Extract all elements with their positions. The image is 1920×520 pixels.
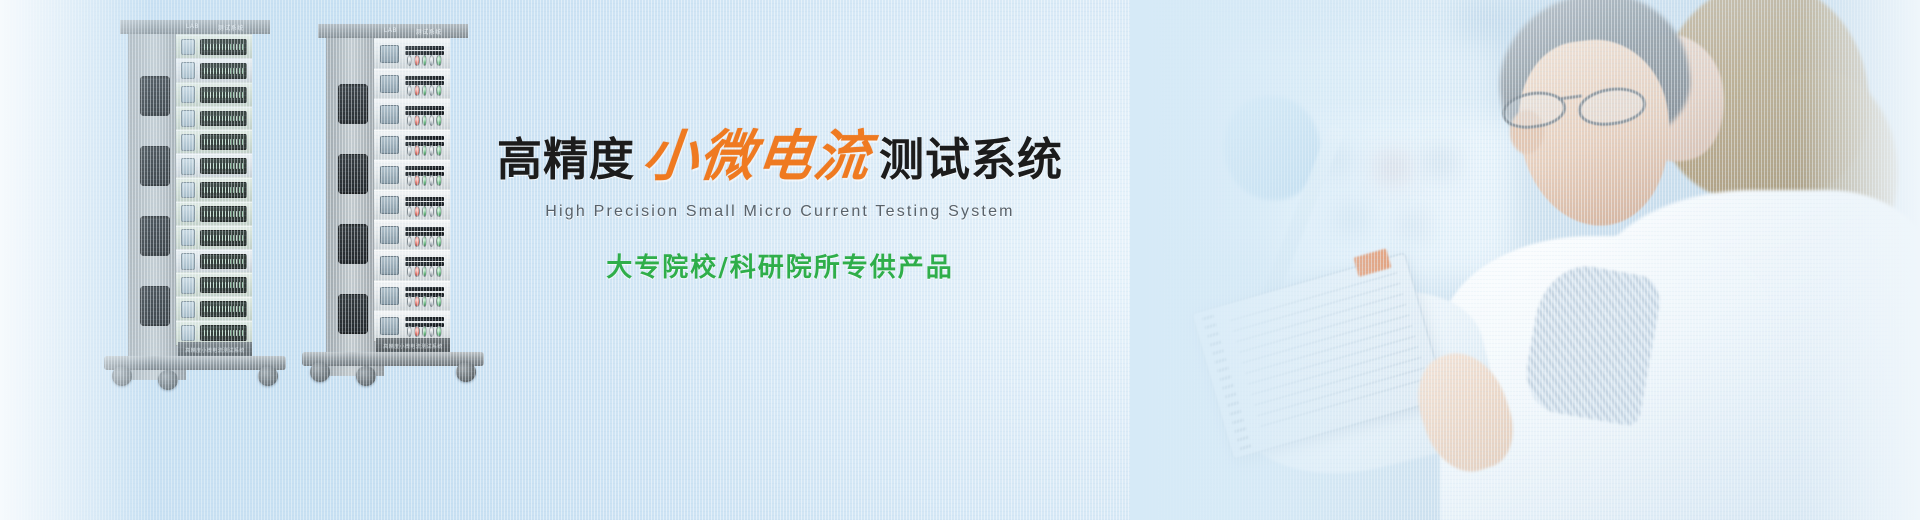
module-channel-strip xyxy=(200,158,247,174)
channel-led xyxy=(210,92,211,98)
module-slot xyxy=(405,136,444,140)
channel-led xyxy=(239,187,240,193)
channel-led xyxy=(230,116,231,122)
module-display xyxy=(181,253,195,270)
module-display xyxy=(181,182,195,199)
rack-base xyxy=(104,356,286,370)
module-slot xyxy=(405,76,444,80)
module-knob xyxy=(407,115,412,126)
channel-led xyxy=(222,235,223,241)
rack-vent xyxy=(338,294,368,334)
module-knob xyxy=(422,115,427,126)
channel-led xyxy=(236,139,237,145)
module-controls xyxy=(405,190,444,220)
channel-led xyxy=(239,68,240,74)
channel-led xyxy=(216,235,217,241)
module-knob xyxy=(436,266,441,277)
module-display xyxy=(181,86,195,103)
photo-fade-overlay xyxy=(1130,0,1920,520)
rack-instrument-module xyxy=(374,98,450,130)
channel-led xyxy=(213,330,214,336)
channel-led xyxy=(242,330,243,336)
channel-led xyxy=(233,44,234,50)
module-knob xyxy=(422,326,427,337)
channel-led xyxy=(239,139,240,145)
module-knob xyxy=(414,206,419,217)
module-knob xyxy=(436,55,441,66)
channel-led xyxy=(225,306,226,312)
module-knob xyxy=(436,296,441,307)
rack-caster xyxy=(310,362,330,382)
rack-vent xyxy=(140,216,170,256)
channel-led xyxy=(242,139,243,145)
channel-led xyxy=(207,259,208,265)
channel-led xyxy=(230,68,231,74)
module-knob xyxy=(429,145,434,156)
channel-led xyxy=(233,116,234,122)
module-display xyxy=(380,226,399,244)
channel-led xyxy=(210,187,211,193)
module-controls xyxy=(405,99,444,129)
module-display xyxy=(181,110,195,127)
rack-channel-module xyxy=(176,249,252,275)
channel-led xyxy=(210,139,211,145)
rack-vent xyxy=(338,154,368,194)
module-display xyxy=(380,317,399,335)
channel-led xyxy=(204,68,205,74)
channel-led xyxy=(204,211,205,217)
channel-led xyxy=(233,282,234,288)
module-knob xyxy=(422,236,427,247)
channel-led xyxy=(216,330,217,336)
channel-led xyxy=(210,211,211,217)
module-knob-row xyxy=(407,175,442,186)
channel-led xyxy=(233,163,234,169)
module-knob xyxy=(407,206,412,217)
title-highlight: 小微电流 xyxy=(640,128,874,183)
module-knob xyxy=(436,236,441,247)
channel-led xyxy=(225,44,226,50)
channel-led xyxy=(207,187,208,193)
module-channel-strip xyxy=(200,87,247,103)
channel-led xyxy=(216,163,217,169)
channel-led xyxy=(204,282,205,288)
module-display xyxy=(380,105,399,123)
rack-module-bay xyxy=(374,38,450,340)
product-banner: LAB 测试系统 高精度小微电流测试系统 LAB 测试系统 高精度小微电流测试系… xyxy=(0,0,1920,520)
module-channel-strip xyxy=(200,182,247,198)
channel-led xyxy=(239,282,240,288)
module-channel-strip xyxy=(200,277,247,293)
channel-led xyxy=(228,187,229,193)
module-knob xyxy=(436,326,441,337)
module-channel-strip xyxy=(200,301,247,317)
rack-vent xyxy=(140,286,170,326)
module-knob xyxy=(429,115,434,126)
banner-copy: 高精度 小微电流 测试系统 High Precision Small Micro… xyxy=(520,128,1040,284)
channel-led xyxy=(204,259,205,265)
channel-led xyxy=(228,92,229,98)
rack-vent xyxy=(338,84,368,124)
module-knob xyxy=(407,236,412,247)
module-display xyxy=(181,134,195,151)
rack-caster xyxy=(158,370,178,390)
channel-led xyxy=(228,259,229,265)
channel-led xyxy=(236,92,237,98)
rack-channel-module xyxy=(176,272,252,298)
module-knob-row xyxy=(407,326,442,337)
module-knob xyxy=(429,55,434,66)
module-display xyxy=(181,158,195,175)
channel-led xyxy=(225,163,226,169)
channel-led xyxy=(225,116,226,122)
module-knob xyxy=(429,85,434,96)
channel-led xyxy=(239,306,240,312)
channel-led xyxy=(213,116,214,122)
rack-instrument-module xyxy=(374,219,450,251)
channel-led xyxy=(242,235,243,241)
rack-model: 测试系统 xyxy=(218,23,244,32)
channel-led xyxy=(219,139,220,145)
channel-led xyxy=(216,68,217,74)
rack-channel-module xyxy=(176,201,252,227)
channel-led xyxy=(219,116,220,122)
module-knob xyxy=(422,145,427,156)
channel-led xyxy=(219,259,220,265)
module-slot xyxy=(405,166,444,170)
rack-channel-module xyxy=(176,106,252,132)
channel-led xyxy=(239,259,240,265)
module-knob xyxy=(436,175,441,186)
rack-instrument-module xyxy=(374,249,450,281)
title-part-1: 高精度 xyxy=(497,137,635,182)
module-knob xyxy=(407,55,412,66)
module-knob xyxy=(436,145,441,156)
channel-led xyxy=(225,259,226,265)
channel-led xyxy=(225,330,226,336)
module-controls xyxy=(405,130,444,160)
channel-led xyxy=(225,68,226,74)
channel-led xyxy=(216,139,217,145)
channel-led xyxy=(239,116,240,122)
channel-led xyxy=(230,259,231,265)
channel-led xyxy=(242,163,243,169)
rack-vent xyxy=(338,224,368,264)
rack-channel-module xyxy=(176,58,252,84)
module-knob xyxy=(422,296,427,307)
channel-led xyxy=(210,116,211,122)
rack-vent xyxy=(140,146,170,186)
channel-led xyxy=(213,211,214,217)
module-knob-row xyxy=(407,145,442,156)
channel-led xyxy=(233,92,234,98)
title-part-2: 测试系统 xyxy=(879,137,1063,182)
module-knob xyxy=(422,266,427,277)
channel-led xyxy=(233,68,234,74)
module-display xyxy=(181,229,195,246)
channel-led xyxy=(210,306,211,312)
module-channel-strip xyxy=(200,63,247,79)
channel-led xyxy=(222,306,223,312)
channel-led xyxy=(228,282,229,288)
channel-led xyxy=(228,116,229,122)
module-controls xyxy=(405,311,444,341)
equipment-rack-left: LAB 测试系统 高精度小微电流测试系统 xyxy=(120,20,270,380)
banner-subtitle-english: High Precision Small Micro Current Testi… xyxy=(520,203,1040,221)
channel-led xyxy=(216,116,217,122)
channel-led xyxy=(207,211,208,217)
channel-led xyxy=(239,92,240,98)
channel-led xyxy=(236,44,237,50)
channel-led xyxy=(204,306,205,312)
module-controls xyxy=(405,39,444,69)
channel-led xyxy=(230,211,231,217)
module-knob xyxy=(414,266,419,277)
channel-led xyxy=(204,187,205,193)
channel-led xyxy=(219,330,220,336)
channel-led xyxy=(236,163,237,169)
channel-led xyxy=(233,259,234,265)
channel-led xyxy=(210,44,211,50)
channel-led xyxy=(225,139,226,145)
channel-led xyxy=(213,306,214,312)
module-knob xyxy=(429,175,434,186)
channel-led xyxy=(242,68,243,74)
module-display xyxy=(380,75,399,93)
module-slot xyxy=(405,106,444,110)
channel-led xyxy=(213,92,214,98)
channel-led xyxy=(225,211,226,217)
module-display xyxy=(181,205,195,222)
module-knob xyxy=(407,145,412,156)
module-display xyxy=(380,45,399,63)
module-controls xyxy=(405,250,444,280)
channel-led xyxy=(204,139,205,145)
channel-led xyxy=(207,163,208,169)
module-display xyxy=(181,301,195,318)
module-channel-strip xyxy=(200,134,247,150)
channel-led xyxy=(219,163,220,169)
channel-led xyxy=(236,187,237,193)
channel-led xyxy=(219,282,220,288)
channel-led xyxy=(204,163,205,169)
channel-led xyxy=(230,235,231,241)
rack-channel-module xyxy=(176,177,252,203)
channel-led xyxy=(222,139,223,145)
channel-led xyxy=(216,306,217,312)
channel-led xyxy=(222,282,223,288)
module-knob-row xyxy=(407,206,442,217)
module-knob xyxy=(414,296,419,307)
module-display xyxy=(380,136,399,154)
module-channel-strip xyxy=(200,254,247,270)
module-knob-row xyxy=(407,115,442,126)
channel-led xyxy=(204,92,205,98)
channel-led xyxy=(210,235,211,241)
rack-instrument-module xyxy=(374,68,450,100)
channel-led xyxy=(242,259,243,265)
channel-led xyxy=(230,92,231,98)
module-knob xyxy=(422,206,427,217)
module-controls xyxy=(405,281,444,311)
channel-led xyxy=(233,211,234,217)
module-knob xyxy=(429,206,434,217)
rack-channel-module xyxy=(176,153,252,179)
rack-model: 测试系统 xyxy=(416,27,442,36)
rack-instrument-module xyxy=(374,129,450,161)
rack-caster xyxy=(456,362,476,382)
channel-led xyxy=(216,44,217,50)
module-knob-row xyxy=(407,55,442,66)
channel-led xyxy=(230,330,231,336)
module-slot xyxy=(405,46,444,50)
channel-led xyxy=(207,306,208,312)
rack-brand: LAB xyxy=(186,24,199,30)
channel-led xyxy=(222,116,223,122)
module-slot xyxy=(405,287,444,291)
channel-led xyxy=(242,306,243,312)
module-slot xyxy=(405,197,444,201)
channel-led xyxy=(236,68,237,74)
channel-led xyxy=(213,68,214,74)
rack-instrument-module xyxy=(374,38,450,70)
channel-led xyxy=(213,163,214,169)
module-knob-row xyxy=(407,236,442,247)
rack-caster xyxy=(258,366,278,386)
channel-led xyxy=(210,163,211,169)
channel-led xyxy=(219,68,220,74)
module-knob xyxy=(429,326,434,337)
rack-base xyxy=(302,352,484,366)
channel-led xyxy=(222,211,223,217)
channel-led xyxy=(225,187,226,193)
channel-led xyxy=(233,306,234,312)
module-display xyxy=(380,196,399,214)
channel-led xyxy=(210,259,211,265)
channel-led xyxy=(219,187,220,193)
module-knob xyxy=(414,326,419,337)
module-display xyxy=(380,166,399,184)
rack-module-bay xyxy=(176,34,252,344)
rack-channel-module xyxy=(176,129,252,155)
channel-led xyxy=(207,235,208,241)
channel-led xyxy=(236,116,237,122)
module-slot xyxy=(405,227,444,231)
channel-led xyxy=(242,282,243,288)
module-controls xyxy=(405,220,444,250)
channel-led xyxy=(233,330,234,336)
module-knob xyxy=(414,55,419,66)
channel-led xyxy=(236,282,237,288)
banner-title: 高精度 小微电流 测试系统 xyxy=(520,128,1040,183)
channel-led xyxy=(219,306,220,312)
module-knob xyxy=(422,55,427,66)
channel-led xyxy=(233,187,234,193)
channel-led xyxy=(242,187,243,193)
rack-channel-module xyxy=(176,34,252,60)
channel-led xyxy=(210,330,211,336)
rack-vent xyxy=(140,76,170,116)
module-knob xyxy=(407,296,412,307)
channel-led xyxy=(213,44,214,50)
channel-led xyxy=(222,44,223,50)
module-knob xyxy=(414,145,419,156)
module-knob xyxy=(414,236,419,247)
channel-led xyxy=(216,211,217,217)
channel-led xyxy=(222,92,223,98)
module-knob xyxy=(407,175,412,186)
channel-led xyxy=(207,92,208,98)
channel-led xyxy=(210,68,211,74)
channel-led xyxy=(228,235,229,241)
channel-led xyxy=(219,211,220,217)
module-knob xyxy=(429,236,434,247)
channel-led xyxy=(216,92,217,98)
channel-led xyxy=(236,259,237,265)
module-knob xyxy=(436,85,441,96)
channel-led xyxy=(236,211,237,217)
channel-led xyxy=(207,330,208,336)
channel-led xyxy=(242,44,243,50)
module-knob xyxy=(436,206,441,217)
channel-led xyxy=(207,68,208,74)
rack-channel-module xyxy=(176,82,252,108)
channel-led xyxy=(216,282,217,288)
channel-led xyxy=(228,68,229,74)
module-channel-strip xyxy=(200,39,247,55)
channel-led xyxy=(204,235,205,241)
equipment-rack-right: LAB 测试系统 高精度小微电流测试系统 xyxy=(318,24,468,376)
channel-led xyxy=(225,282,226,288)
channel-led xyxy=(225,92,226,98)
rack-brand: LAB xyxy=(384,28,397,34)
module-channel-strip xyxy=(200,111,247,127)
rack-channel-module xyxy=(176,225,252,251)
module-knob xyxy=(422,175,427,186)
channel-led xyxy=(216,259,217,265)
channel-led xyxy=(230,44,231,50)
lab-scientists-photo xyxy=(1130,0,1920,520)
channel-led xyxy=(222,187,223,193)
module-channel-strip xyxy=(200,325,247,341)
channel-led xyxy=(219,92,220,98)
rack-caster xyxy=(356,366,376,386)
channel-led xyxy=(207,282,208,288)
channel-led xyxy=(213,235,214,241)
channel-led xyxy=(228,211,229,217)
channel-led xyxy=(230,282,231,288)
channel-led xyxy=(204,116,205,122)
channel-led xyxy=(213,187,214,193)
channel-led xyxy=(230,306,231,312)
module-knob xyxy=(407,266,412,277)
channel-led xyxy=(236,330,237,336)
channel-led xyxy=(230,163,231,169)
module-knob xyxy=(429,266,434,277)
channel-led xyxy=(222,68,223,74)
channel-led xyxy=(222,259,223,265)
channel-led xyxy=(213,282,214,288)
rack-caster xyxy=(112,366,132,386)
module-knob xyxy=(429,296,434,307)
channel-led xyxy=(239,44,240,50)
channel-led xyxy=(239,211,240,217)
module-slot xyxy=(405,257,444,261)
module-knob xyxy=(422,85,427,96)
channel-led xyxy=(239,330,240,336)
channel-led xyxy=(216,187,217,193)
channel-led xyxy=(230,187,231,193)
